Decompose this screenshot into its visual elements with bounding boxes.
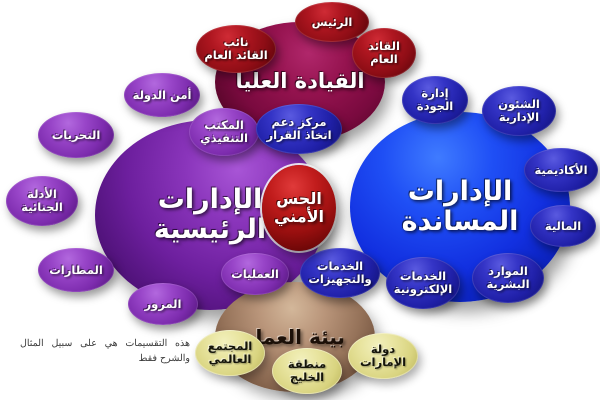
core-node-security-awareness[interactable]: الحس الأمني [262,165,336,251]
satellite-traffic-label: المرور [145,298,182,311]
satellite-electronic-services[interactable]: الخدمات الإلكترونية [386,257,460,309]
satellite-administrative-affairs-label: الشئون الإدارية [498,98,540,124]
satellite-investigations-label: التحريات [52,129,101,142]
satellite-services-and-equipment-label: الخدمات والتجهيزات [308,260,371,286]
satellite-human-resources-label: الموارد البشرية [486,265,529,291]
satellite-state-security-label: أمن الدولة [133,89,192,102]
satellite-gulf-region[interactable]: منطقة الخليج [272,348,342,394]
satellite-airports[interactable]: المطارات [38,248,114,292]
satellite-uae[interactable]: دولة الإمارات [348,333,418,379]
satellite-commander-general-label: القائد العام [368,40,400,66]
satellite-uae-label: دولة الإمارات [360,343,406,369]
satellite-operations[interactable]: العمليات [221,253,289,295]
satellite-deputy-commander-general-label: نائب القائد العام [204,36,267,62]
core-node-label: الحس الأمني [274,190,324,226]
satellite-criminal-evidence[interactable]: الأدلة الجنائية [6,176,78,226]
satellite-executive-office[interactable]: المكتب التنفيذي [189,108,259,156]
cluster-main-departments-label: الإدارات الرئيسية [154,185,266,245]
satellite-electronic-services-label: الخدمات الإلكترونية [394,270,453,296]
satellite-global-community-label: المجتمع العالمي [208,340,253,366]
satellite-president-label: الرئيس [312,16,353,29]
satellite-criminal-evidence-label: الأدلة الجنائية [21,188,63,214]
satellite-commander-general[interactable]: القائد العام [352,28,416,78]
satellite-quality-management[interactable]: إدارة الجودة [402,76,468,124]
satellite-decision-support-center[interactable]: مركز دعم اتخاذ القرار [256,104,342,154]
satellite-academy-label: الأكاديمية [534,164,587,177]
satellite-operations-label: العمليات [231,268,279,281]
satellite-gulf-region-label: منطقة الخليج [288,358,326,384]
satellite-airports-label: المطارات [49,264,103,277]
satellite-administrative-affairs[interactable]: الشئون الإدارية [482,86,556,136]
satellite-state-security[interactable]: أمن الدولة [124,73,200,117]
satellite-quality-management-label: إدارة الجودة [417,87,453,113]
cluster-senior-leadership-label: القيادة العليا [235,70,364,94]
footnote-text: هذه التقسيمات هي على سبيل المثال والشرح … [20,336,190,366]
satellite-academy[interactable]: الأكاديمية [524,148,598,192]
satellite-investigations[interactable]: التحريات [38,112,114,158]
satellite-executive-office-label: المكتب التنفيذي [200,119,248,145]
satellite-president[interactable]: الرئيس [295,2,369,42]
satellite-finance[interactable]: المالية [530,205,596,247]
satellite-decision-support-center-label: مركز دعم اتخاذ القرار [266,116,331,142]
satellite-deputy-commander-general[interactable]: نائب القائد العام [196,25,276,73]
satellite-finance-label: المالية [545,220,581,233]
satellite-services-and-equipment[interactable]: الخدمات والتجهيزات [300,248,380,298]
satellite-traffic[interactable]: المرور [128,283,198,325]
satellite-human-resources[interactable]: الموارد البشرية [472,253,544,303]
satellite-global-community[interactable]: المجتمع العالمي [195,330,265,376]
cluster-support-departments-label: الإدارات المساندة [402,177,519,237]
security-awareness-diagram: الإدارات الرئيسية الإدارات المساندة القي… [0,0,600,400]
